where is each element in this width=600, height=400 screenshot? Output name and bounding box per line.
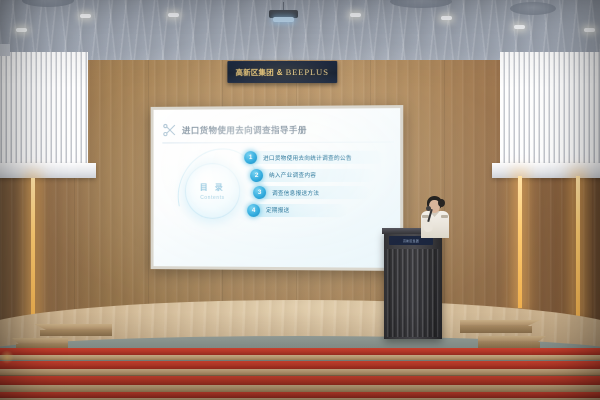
acoustic-panel-cap-left: [0, 163, 96, 178]
slide-title-row: 进口货物使用去向调查指导手册: [162, 122, 307, 138]
seat-cushion: [0, 361, 600, 369]
ceiling-spot-1: [16, 28, 27, 32]
venue-banner-english: BEEPLUS: [286, 67, 329, 77]
list-item-label: 调查信息报送方法: [272, 188, 319, 196]
contents-label-english: Contents: [200, 194, 224, 200]
acoustic-panel-cap-right: [492, 163, 600, 178]
slide-agenda-list: 1 进口货物使用去向统计调查的公告 2 纳入产业调查内容 3 调查信息报送方法 …: [244, 151, 383, 222]
led-strip-right-outer: [576, 176, 580, 316]
scissors-icon: [162, 123, 177, 138]
stage-step-right-upper-face: [460, 326, 532, 333]
ceiling-vent-right: [510, 2, 556, 15]
list-item-number: 2: [250, 169, 263, 182]
ceiling-projector: [283, 2, 284, 11]
lectern-plate-text: 高新区集团: [403, 239, 419, 243]
ceiling-spot-2: [80, 14, 91, 18]
contents-label-chinese: 目 录: [200, 182, 225, 193]
microphone-head: [426, 206, 431, 211]
list-item: 3 调查信息报送方法: [253, 186, 383, 199]
slide-title: 进口货物使用去向调查指导手册: [182, 123, 307, 136]
bench-back: [0, 369, 600, 375]
list-item-label: 定期报送: [266, 206, 290, 214]
ceiling-spot-7: [584, 28, 595, 32]
seat-row: [0, 392, 600, 400]
lectern-fluting: [387, 249, 439, 337]
slide-title-divider: [162, 142, 394, 144]
slide-contents-badge: 目 录 Contents: [185, 163, 240, 219]
projector-lens: [273, 17, 294, 22]
presenter-hair-bun: [438, 199, 445, 207]
acoustic-panel-left: [0, 52, 88, 164]
ceiling-spot-3: [168, 13, 179, 17]
list-item-number: 3: [253, 186, 266, 199]
audience-seating: [0, 344, 600, 400]
aisle-floor-light: [0, 350, 14, 364]
bench-back: [0, 385, 600, 392]
presenter: [417, 196, 453, 238]
ceiling-spot-6: [514, 25, 525, 29]
venue-banner-sign: 高新区集团 & BEEPLUS: [227, 61, 337, 83]
seat-cushion: [0, 348, 600, 355]
ceiling-spot-5: [441, 16, 452, 20]
list-item-label: 纳入产业调查内容: [269, 171, 316, 179]
list-item: 4 定期报送: [247, 203, 383, 216]
list-item-number: 1: [244, 151, 257, 164]
stage-step-left-upper-face: [40, 330, 112, 336]
ceiling-spot-4: [350, 13, 361, 17]
seat-row: [0, 376, 600, 391]
list-item-label: 进口货物使用去向统计调查的公告: [263, 153, 352, 161]
venue-banner-chinese: 高新区集团: [236, 67, 274, 78]
projection-screen: 进口货物使用去向调查指导手册 目 录 Contents 1 进口货物使用去向统计…: [154, 108, 401, 268]
lectern: 高新区集团: [384, 231, 442, 339]
list-item: 1 进口货物使用去向统计调查的公告: [244, 151, 383, 164]
led-strip-left: [31, 178, 35, 320]
presenter-shoulder-insignia-right: [441, 215, 448, 218]
panel-scallop-left: [0, 44, 10, 56]
seat-cushion: [0, 376, 600, 385]
led-strip-right-inner: [518, 176, 522, 308]
list-item-number: 4: [247, 203, 260, 216]
acoustic-panel-right: [500, 52, 600, 164]
bench-back: [0, 355, 600, 360]
seat-row: [0, 361, 600, 374]
venue-banner-ampersand: &: [277, 67, 283, 76]
list-item: 2 纳入产业调查内容: [250, 168, 383, 181]
projection-screen-frame: 进口货物使用去向调查指导手册 目 录 Contents 1 进口货物使用去向统计…: [151, 105, 404, 271]
seat-row: [0, 348, 600, 359]
auditorium-photo: 高新区集团 & BEEPLUS 进口货物使用去向调查指导手册: [0, 0, 600, 400]
